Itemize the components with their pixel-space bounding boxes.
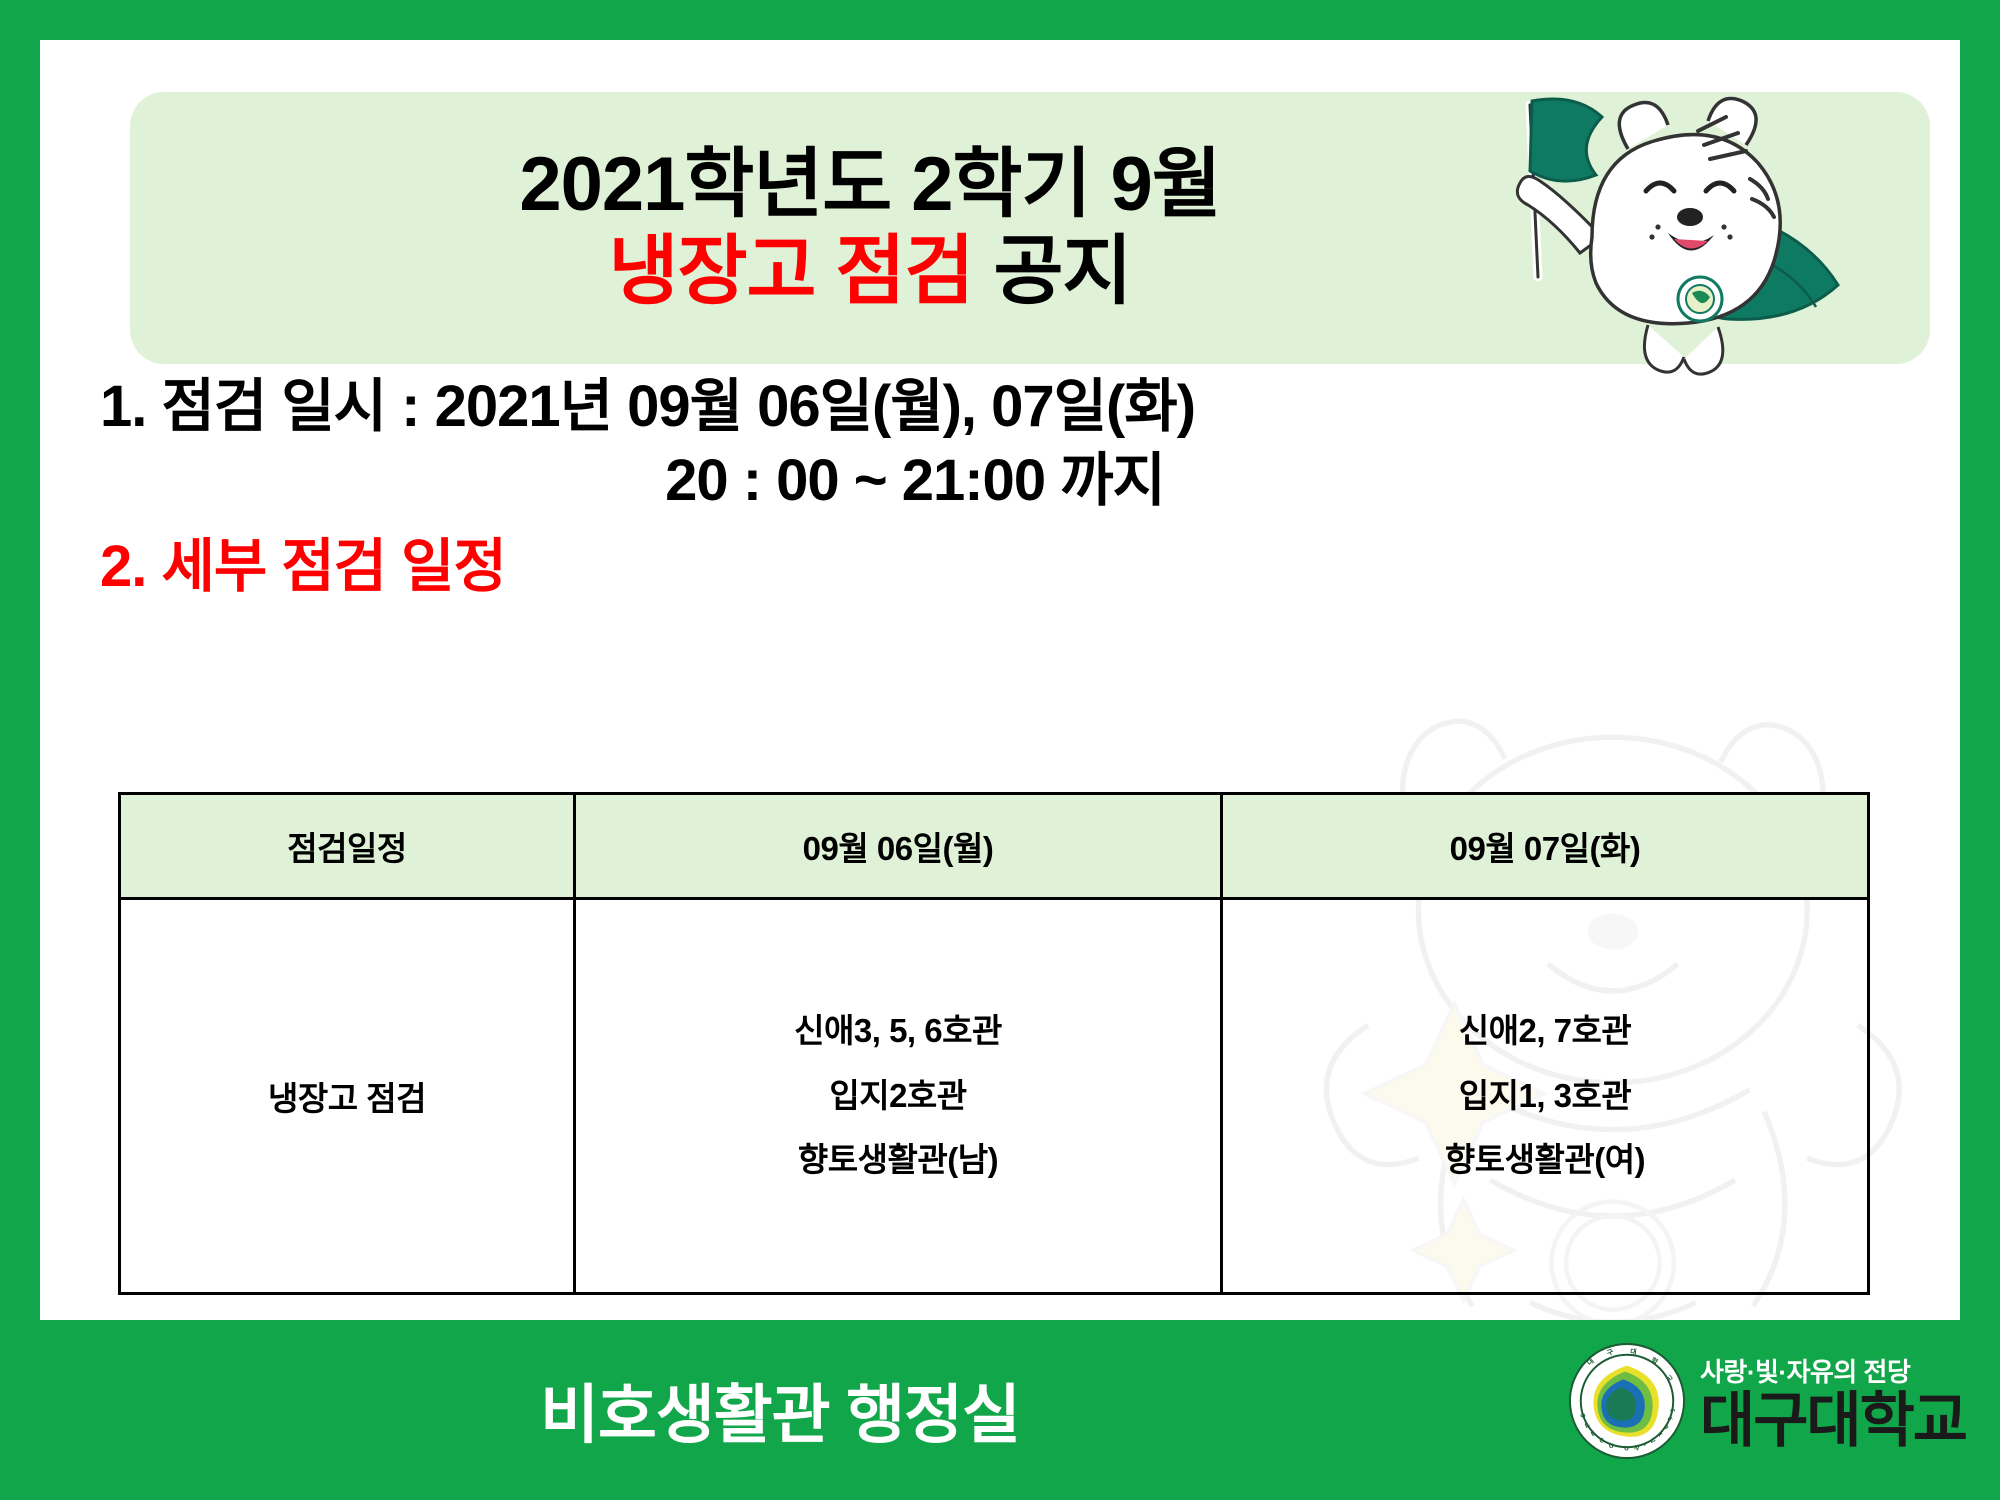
title-banner: 2021학년도 2학기 9월 냉장고 점검 공지: [130, 92, 1930, 364]
content-panel: 2021학년도 2학기 9월 냉장고 점검 공지: [40, 40, 1960, 1320]
column-header-schedule: 점검일정: [120, 794, 575, 899]
footer-office-name: 비호생활관 행정실: [0, 1320, 1560, 1500]
title-line-2-suffix: 공지: [973, 229, 1131, 314]
cell-line: 신애2, 7호관: [1229, 999, 1861, 1063]
column-header-day2: 09월 07일(화): [1222, 794, 1869, 899]
item-1-time-range: 20 : 00 ~ 21:00 까지: [100, 444, 1900, 518]
notice-items: 1. 점검 일시 : 2021년 09월 06일(월), 07일(화) 20 :…: [100, 370, 1900, 605]
tiger-mascot-icon: [1452, 87, 1912, 387]
title-line-1: 2021학년도 2학기 9월: [519, 142, 1220, 227]
cell-day2-buildings: 신애2, 7호관 입지1, 3호관 향토생활관(여): [1222, 899, 1869, 1294]
item-1-datetime: 1. 점검 일시 : 2021년 09월 06일(월), 07일(화): [100, 370, 1900, 444]
item-2-heading: 2. 세부 점검 일정: [100, 530, 1900, 604]
table-header-row: 점검일정 09월 06일(월) 09월 07일(화): [120, 794, 1869, 899]
footer-bar: 비호생활관 행정실 대 구 대 학 교 D: [0, 1320, 2000, 1500]
cell-line: 입지2호관: [582, 1064, 1214, 1128]
poster-root: 2021학년도 2학기 9월 냉장고 점검 공지: [0, 0, 2000, 1500]
cell-line: 향토생활관(여): [1229, 1128, 1861, 1192]
table-head: 점검일정 09월 06일(월) 09월 07일(화): [120, 794, 1869, 899]
cell-line: 입지1, 3호관: [1229, 1064, 1861, 1128]
title-block: 2021학년도 2학기 9월 냉장고 점검 공지: [130, 92, 1610, 364]
brand-wordmark: 사랑·빛·자유의 전당 대구대학교: [1700, 1352, 1966, 1451]
table-row: 냉장고 점검 신애3, 5, 6호관 입지2호관 향토생활관(남) 신애2, 7…: [120, 899, 1869, 1294]
university-seal-icon: 대 구 대 학 교 D A E G U U N I V 1 9: [1568, 1342, 1686, 1460]
row-label-fridge-inspection: 냉장고 점검: [120, 899, 575, 1294]
cell-line: 향토생활관(남): [582, 1128, 1214, 1192]
cell-line: 신애3, 5, 6호관: [582, 999, 1214, 1063]
column-header-day1: 09월 06일(월): [575, 794, 1222, 899]
title-highlight: 냉장고 점검: [609, 229, 974, 314]
title-line-2: 냉장고 점검 공지: [609, 229, 1132, 314]
table-body: 냉장고 점검 신애3, 5, 6호관 입지2호관 향토생활관(남) 신애2, 7…: [120, 899, 1869, 1294]
university-brand: 대 구 대 학 교 D A E G U U N I V 1 9: [1568, 1342, 1966, 1460]
cell-day1-buildings: 신애3, 5, 6호관 입지2호관 향토생활관(남): [575, 899, 1222, 1294]
brand-name: 대구대학교: [1700, 1391, 1966, 1451]
inspection-schedule-table: 점검일정 09월 06일(월) 09월 07일(화) 냉장고 점검 신애3, 5…: [118, 792, 1870, 1295]
brand-tagline: 사랑·빛·자유의 전당: [1700, 1352, 1910, 1389]
